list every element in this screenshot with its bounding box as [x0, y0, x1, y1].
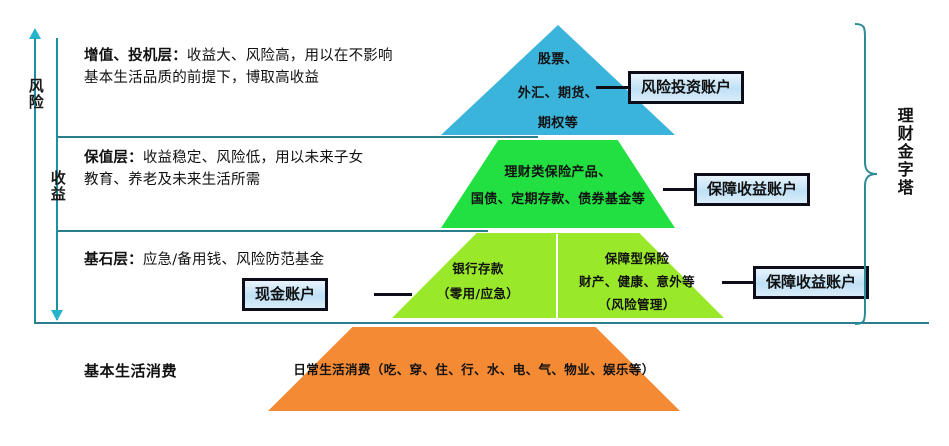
- preserve-description: 保值层：收益稳定、风险低，用以未来子女 教育、养老及未来生活所需: [84, 147, 484, 192]
- diagram-title: 理财金字塔: [895, 107, 913, 197]
- preserve-description-rest: 收益稳定、风险低，用以未来子女: [143, 150, 364, 166]
- foundation-right-line-1: 保障型保险: [558, 248, 716, 270]
- pyramid-brace-icon: [852, 22, 880, 326]
- pyramid-tier-basic-label: 日常生活消费（吃、穿、住、行、水、电、气、物业、娱乐等）: [268, 358, 680, 381]
- foundation-right-line-3: （风险管理）: [558, 294, 716, 316]
- foundation-description-rest: 应急/备用钱、风险防范基金: [143, 252, 324, 268]
- callout-guaranteed-income-account[interactable]: 保障收益账户: [694, 173, 810, 206]
- separator-line-1: [58, 136, 538, 138]
- growth-description-line2: 基本生活品质的前提下，博取高收益: [84, 70, 319, 86]
- foundation-callout-leader: [722, 281, 755, 284]
- callout-risk-investment-account[interactable]: 风险投资账户: [628, 71, 744, 104]
- risk-axis-label: 风险: [27, 78, 43, 110]
- preserve-description-line2: 教育、养老及未来生活所需: [84, 172, 260, 188]
- growth-description: 增值、投机层：收益大、风险高，用以在不影响 基本生活品质的前提下，博取高收益: [84, 45, 504, 90]
- pyramid-diagram: 风险 收益 日常生活消费（吃、穿、住、行、水、电、气、物业、娱乐等） 银行存款 …: [0, 0, 949, 446]
- foundation-left-line-2: （零用/应急）: [400, 283, 556, 305]
- separator-line-3: [34, 322, 929, 324]
- separator-line-2: [58, 230, 488, 232]
- cash-callout-leader: [374, 293, 412, 296]
- return-axis-label: 收益: [49, 170, 65, 202]
- growth-description-bold: 增值、投机层：: [84, 48, 187, 64]
- return-arrow-head-icon: [51, 310, 63, 321]
- foundation-description-bold: 基石层：: [84, 252, 143, 268]
- preserve-callout-leader: [663, 188, 696, 191]
- callout-cash-account[interactable]: 现金账户: [242, 278, 328, 311]
- growth-callout-leader: [596, 86, 630, 89]
- growth-description-rest: 收益大、风险高，用以在不影响: [187, 48, 393, 64]
- growth-line-3: 期权等: [441, 112, 675, 136]
- preserve-description-bold: 保值层：: [84, 150, 143, 166]
- basic-consumption-note: 基本生活消费: [84, 360, 177, 381]
- foundation-right-line-2: 财产、健康、意外等: [558, 271, 716, 293]
- foundation-description: 基石层：应急/备用钱、风险防范基金: [84, 249, 444, 271]
